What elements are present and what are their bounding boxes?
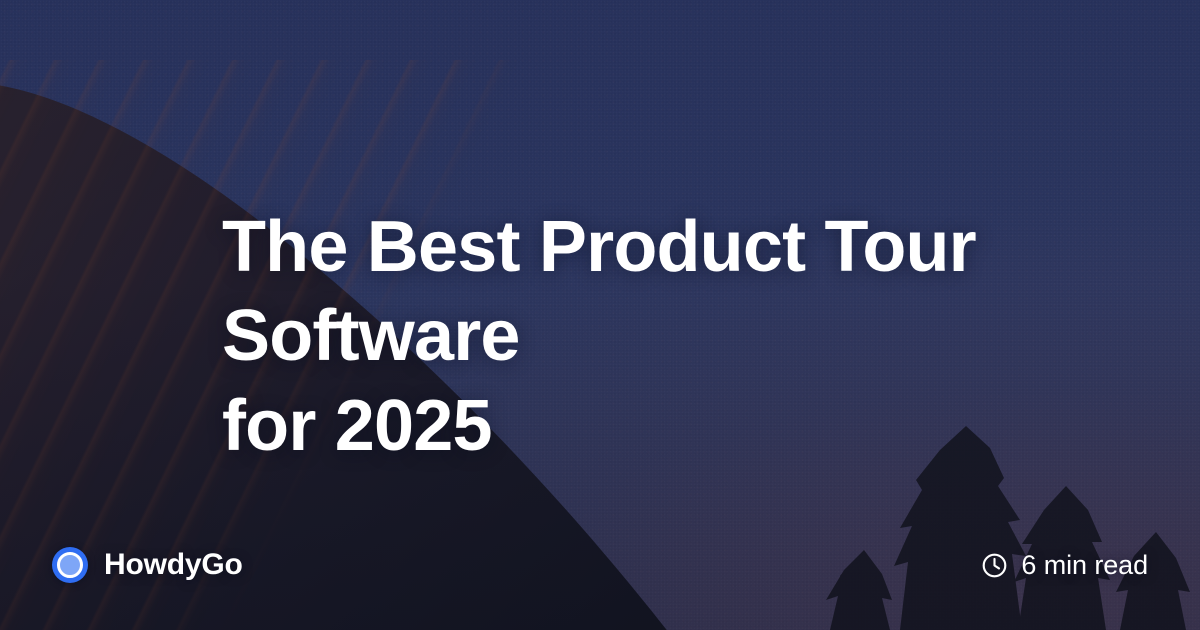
circle-logo-icon [52,547,88,583]
clock-icon [981,552,1008,579]
card-footer: HowdyGo 6 min read [52,544,1148,586]
read-time: 6 min read [981,550,1148,581]
page-title: The Best Product Tour Software for 2025 [222,203,1042,471]
social-share-card: The Best Product Tour Software for 2025 … [0,0,1200,630]
circle-logo-inner [57,552,83,578]
read-time-label: 6 min read [1021,550,1148,581]
brand-lockup[interactable]: HowdyGo [52,547,243,583]
card-content: The Best Product Tour Software for 2025 … [0,0,1200,630]
brand-name-label: HowdyGo [104,548,243,582]
